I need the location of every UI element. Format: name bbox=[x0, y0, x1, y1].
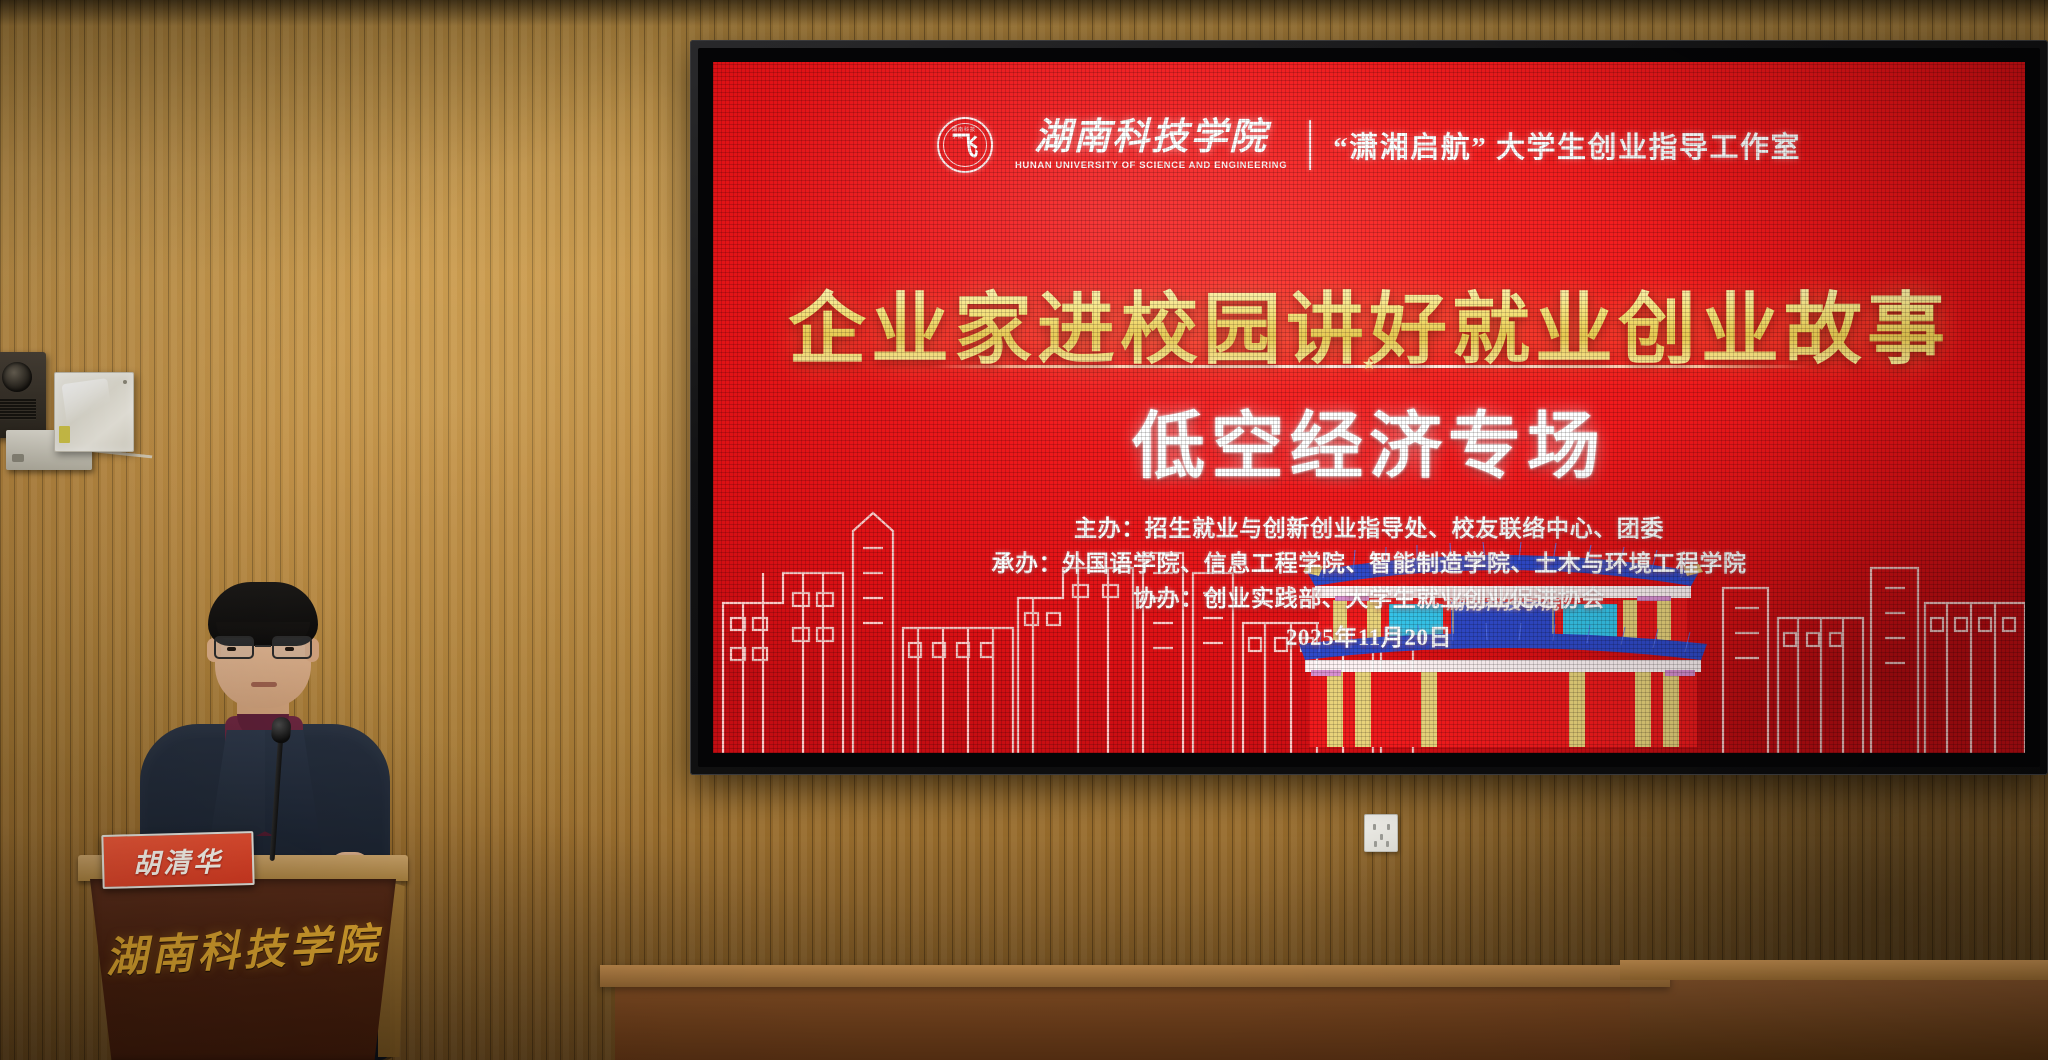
podium-engraved-name: 湖南科技学院 bbox=[104, 910, 383, 985]
university-name-en: HUNAN UNIVERSITY OF SCIENCE AND ENGINEER… bbox=[1015, 160, 1287, 171]
glasses-bridge bbox=[255, 645, 271, 647]
event-date: 2025年11月20日 bbox=[713, 620, 2025, 657]
outlet-slot-icon bbox=[1386, 841, 1389, 847]
wall-access-panel bbox=[54, 372, 134, 452]
university-name-cn: 湖南科技学院 bbox=[1034, 119, 1268, 157]
ceiling-shadow bbox=[0, 0, 2048, 26]
lectern-podium: 湖南科技学院 胡清华 bbox=[78, 855, 408, 1060]
organizer-line-host: 主办：招生就业与创新创业指导处、校友联络中心、团委 bbox=[713, 512, 2025, 547]
outlet-slot-icon bbox=[1380, 834, 1383, 840]
conference-table-top-right bbox=[1620, 960, 2048, 980]
outlet-slot-icon bbox=[1387, 824, 1390, 830]
event-subtitle: 低空经济专场 bbox=[713, 387, 2025, 493]
conference-table-front bbox=[615, 985, 1655, 1060]
conference-table-top bbox=[600, 965, 1670, 987]
outlet-slot-icon bbox=[1373, 824, 1376, 830]
led-screen-bezel: 湖南科技学院 湖南科技学院 飞 湖南科技学院 HUNAN UNIVERSITY … bbox=[690, 40, 2048, 775]
person-mouth bbox=[251, 682, 277, 687]
organizer-line-coorganizer: 协办：创业实践部、大学生就业创业促进协会 bbox=[713, 582, 2025, 617]
led-display: 湖南科技学院 湖南科技学院 飞 湖南科技学院 HUNAN UNIVERSITY … bbox=[713, 62, 2025, 753]
speaker-cone-icon bbox=[2, 362, 32, 392]
microphone-head-icon bbox=[271, 717, 292, 744]
organizer-line-undertaker: 承办：外国语学院、信息工程学院、智能制造学院、土木与环境工程学院 bbox=[713, 547, 2025, 582]
outlet-slot-icon bbox=[1374, 841, 1377, 847]
nameplate-name: 胡清华 bbox=[133, 839, 224, 880]
wall-speaker-icon bbox=[0, 352, 46, 438]
logo-glyph: 飞 bbox=[951, 134, 978, 161]
university-name-block: 湖南科技学院 HUNAN UNIVERSITY OF SCIENCE AND E… bbox=[1015, 119, 1287, 171]
university-logo-icon: 湖南科技学院 飞 bbox=[937, 117, 993, 173]
panel-screw-icon bbox=[123, 380, 127, 384]
person-eye-left bbox=[227, 647, 236, 651]
power-outlet bbox=[1364, 814, 1398, 852]
presentation-scene: 湖南科技学院 湖南科技学院 飞 湖南科技学院 HUNAN UNIVERSITY … bbox=[0, 0, 2048, 1060]
organizer-block: 主办：招生就业与创新创业指导处、校友联络中心、团委 承办：外国语学院、信息工程学… bbox=[713, 512, 2025, 657]
podium-front-panel: 湖南科技学院 bbox=[90, 879, 396, 1060]
speaker-nameplate: 胡清华 bbox=[101, 831, 254, 889]
person-eye-right bbox=[285, 647, 294, 651]
conference-table-front-right bbox=[1630, 978, 2048, 1060]
studio-name: “潇湘启航” 大学生创业指导工作室 bbox=[1333, 124, 1801, 166]
led-header-row: 湖南科技学院 飞 湖南科技学院 HUNAN UNIVERSITY OF SCIE… bbox=[713, 114, 2025, 176]
speaker-grill-icon bbox=[0, 398, 36, 420]
title-star-icon: ★ bbox=[1362, 354, 1376, 374]
panel-yellow-tag bbox=[59, 426, 70, 443]
header-divider bbox=[1309, 120, 1311, 170]
